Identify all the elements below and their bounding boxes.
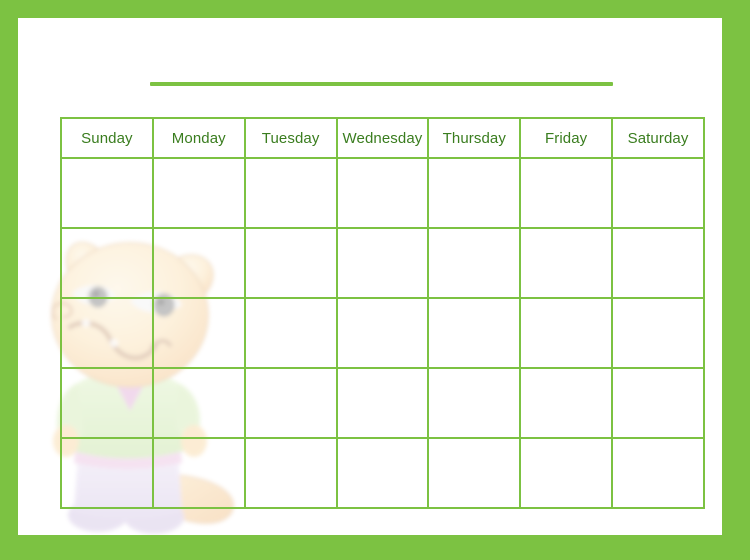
calendar-day-cell[interactable] [612, 438, 704, 508]
calendar-day-cell[interactable] [61, 368, 153, 438]
calendar-day-cell[interactable] [337, 438, 429, 508]
calendar-week-row [61, 228, 704, 298]
day-cell-text [521, 299, 611, 314]
day-cell-text [521, 229, 611, 244]
day-cell-text [429, 159, 519, 174]
calendar-day-cell[interactable] [245, 438, 337, 508]
calendar-title-rule [150, 82, 613, 86]
day-cell-text [429, 369, 519, 384]
calendar-day-cell[interactable] [612, 158, 704, 228]
day-cell-text [613, 229, 703, 244]
calendar-title[interactable] [150, 52, 613, 80]
day-cell-text [613, 159, 703, 174]
calendar-day-cell[interactable] [153, 438, 245, 508]
page-frame-top [0, 0, 750, 18]
day-cell-text [62, 369, 152, 384]
day-cell-text [62, 229, 152, 244]
day-cell-text [154, 369, 244, 384]
page-content-area: Sunday Monday Tuesday Wednesday Thursday… [18, 18, 722, 535]
day-cell-text [429, 439, 519, 454]
weekday-header-saturday: Saturday [612, 118, 704, 158]
calendar-day-cell[interactable] [245, 228, 337, 298]
weekday-header-sunday: Sunday [61, 118, 153, 158]
day-cell-text [246, 299, 336, 314]
calendar-day-cell[interactable] [428, 368, 520, 438]
calendar-day-cell[interactable] [153, 158, 245, 228]
day-cell-text [62, 159, 152, 174]
calendar-day-cell[interactable] [153, 298, 245, 368]
day-cell-text [246, 229, 336, 244]
calendar-grid: Sunday Monday Tuesday Wednesday Thursday… [60, 117, 705, 509]
calendar-header-row: Sunday Monday Tuesday Wednesday Thursday… [61, 118, 704, 158]
day-cell-text [154, 229, 244, 244]
calendar-day-cell[interactable] [337, 158, 429, 228]
weekday-header-tuesday: Tuesday [245, 118, 337, 158]
calendar-day-cell[interactable] [61, 438, 153, 508]
page-frame-bottom [0, 535, 750, 560]
calendar-day-cell[interactable] [520, 438, 612, 508]
calendar-week-row [61, 298, 704, 368]
day-cell-text [521, 159, 611, 174]
weekday-header-wednesday: Wednesday [337, 118, 429, 158]
weekday-header-friday: Friday [520, 118, 612, 158]
calendar-day-cell[interactable] [61, 298, 153, 368]
day-cell-text [613, 369, 703, 384]
day-cell-text [521, 369, 611, 384]
weekday-header-thursday: Thursday [428, 118, 520, 158]
calendar-day-cell[interactable] [61, 158, 153, 228]
day-cell-text [246, 439, 336, 454]
day-cell-text [154, 439, 244, 454]
calendar-day-cell[interactable] [337, 228, 429, 298]
calendar-day-cell[interactable] [428, 228, 520, 298]
page-frame-right [722, 0, 750, 560]
calendar-week-row [61, 368, 704, 438]
day-cell-text [338, 229, 428, 244]
calendar-day-cell[interactable] [337, 368, 429, 438]
calendar-day-cell[interactable] [428, 438, 520, 508]
day-cell-text [246, 369, 336, 384]
calendar-day-cell[interactable] [245, 368, 337, 438]
day-cell-text [429, 229, 519, 244]
calendar-day-cell[interactable] [612, 228, 704, 298]
calendar-body [61, 158, 704, 508]
calendar-day-cell[interactable] [520, 368, 612, 438]
day-cell-text [429, 299, 519, 314]
day-cell-text [613, 439, 703, 454]
day-cell-text [521, 439, 611, 454]
day-cell-text [338, 369, 428, 384]
calendar-day-cell[interactable] [245, 298, 337, 368]
calendar-day-cell[interactable] [428, 298, 520, 368]
weekday-header-monday: Monday [153, 118, 245, 158]
calendar-day-cell[interactable] [520, 298, 612, 368]
calendar-day-cell[interactable] [428, 158, 520, 228]
page-frame-left [0, 0, 18, 560]
calendar-week-row [61, 438, 704, 508]
day-cell-text [338, 159, 428, 174]
day-cell-text [62, 439, 152, 454]
day-cell-text [338, 299, 428, 314]
calendar-day-cell[interactable] [337, 298, 429, 368]
calendar-day-cell[interactable] [153, 228, 245, 298]
calendar-day-cell[interactable] [153, 368, 245, 438]
calendar-day-cell[interactable] [520, 158, 612, 228]
calendar-day-cell[interactable] [520, 228, 612, 298]
calendar-template-page: Sunday Monday Tuesday Wednesday Thursday… [0, 0, 750, 560]
calendar-day-cell[interactable] [245, 158, 337, 228]
calendar-day-cell[interactable] [612, 368, 704, 438]
day-cell-text [154, 159, 244, 174]
calendar-day-cell[interactable] [61, 228, 153, 298]
calendar-day-cell[interactable] [612, 298, 704, 368]
day-cell-text [246, 159, 336, 174]
day-cell-text [338, 439, 428, 454]
day-cell-text [154, 299, 244, 314]
calendar-week-row [61, 158, 704, 228]
day-cell-text [62, 299, 152, 314]
day-cell-text [613, 299, 703, 314]
